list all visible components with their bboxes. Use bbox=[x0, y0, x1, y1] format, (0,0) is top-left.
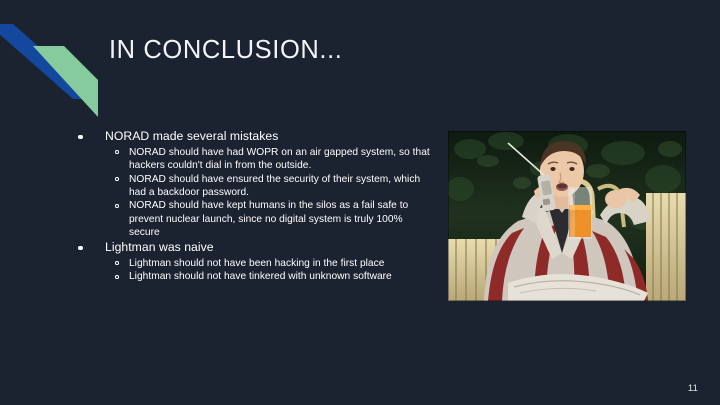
body-content: NORAD made several mistakes NORAD should… bbox=[72, 129, 436, 285]
hollow-circle-icon bbox=[115, 177, 119, 181]
list-item: Lightman should not have tinkered with u… bbox=[105, 270, 436, 283]
bullet-text-level2: NORAD should have ensured the security o… bbox=[129, 173, 436, 199]
hollow-circle-icon bbox=[115, 261, 119, 265]
hollow-circle-icon bbox=[115, 150, 119, 154]
list-item: NORAD should have kept humans in the sil… bbox=[105, 199, 436, 239]
bullet-list-level1: NORAD made several mistakes NORAD should… bbox=[72, 129, 436, 284]
filled-disc-icon bbox=[78, 246, 83, 251]
list-item: NORAD should have had WOPR on an air gap… bbox=[105, 146, 436, 172]
slide: IN CONCLUSION... NORAD made several mist… bbox=[0, 0, 720, 405]
hollow-circle-icon bbox=[115, 275, 119, 279]
list-item: NORAD should have ensured the security o… bbox=[105, 173, 436, 199]
list-item: Lightman should not have been hacking in… bbox=[105, 257, 436, 270]
bullet-list-level2: Lightman should not have been hacking in… bbox=[105, 257, 436, 284]
corner-decoration bbox=[0, 0, 140, 130]
page-number: 11 bbox=[688, 382, 698, 393]
bullet-text-level2: NORAD should have kept humans in the sil… bbox=[129, 199, 436, 239]
bullet-list-level2: NORAD should have had WOPR on an air gap… bbox=[105, 146, 436, 239]
bullet-text-level2: Lightman should not have tinkered with u… bbox=[129, 270, 436, 283]
bullet-text-level1: Lightman was naive bbox=[105, 240, 436, 256]
bullet-text-level2: Lightman should not have been hacking in… bbox=[129, 257, 436, 270]
green-parallelogram bbox=[33, 46, 98, 117]
list-item: NORAD made several mistakes NORAD should… bbox=[72, 129, 436, 239]
list-item: Lightman was naive Lightman should not h… bbox=[72, 240, 436, 284]
hollow-circle-icon bbox=[115, 204, 119, 208]
page-title: IN CONCLUSION... bbox=[109, 36, 342, 65]
photo-illustration bbox=[448, 131, 686, 301]
blue-parallelogram bbox=[0, 24, 98, 99]
bullet-text-level1: NORAD made several mistakes bbox=[105, 129, 436, 145]
slide-photo bbox=[448, 131, 686, 301]
filled-disc-icon bbox=[78, 135, 83, 140]
bullet-text-level2: NORAD should have had WOPR on an air gap… bbox=[129, 146, 436, 172]
double-chevron-parallelograms-icon bbox=[0, 0, 140, 130]
